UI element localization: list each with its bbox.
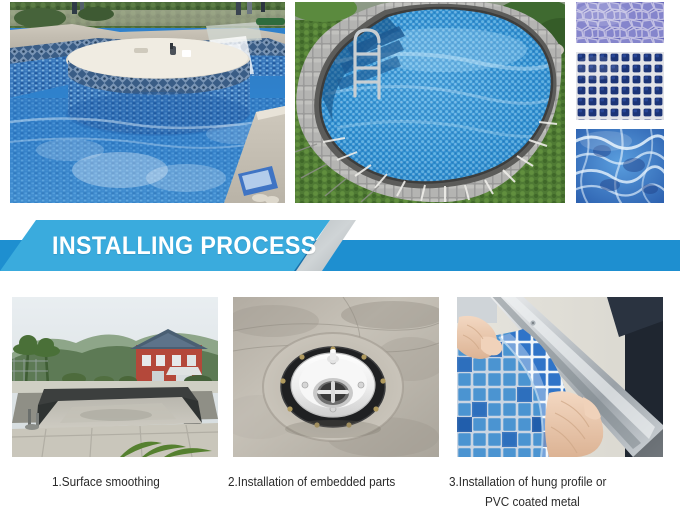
photo-pool-fountain	[10, 2, 285, 203]
swatch-ripple	[576, 129, 664, 203]
caption-step-3-line-2: PVC coated metal	[449, 492, 606, 507]
installing-process-page: INSTALLING PROCESS	[0, 0, 680, 507]
installing-process-banner: INSTALLING PROCESS	[0, 205, 680, 285]
photo-pool-kidney	[295, 2, 565, 203]
swatch-crackle	[576, 2, 664, 43]
caption-step-2: 2.Installation of embedded parts	[228, 472, 395, 492]
caption-step-1: 1.Surface smoothing	[52, 472, 160, 492]
page-title: INSTALLING PROCESS	[52, 232, 317, 261]
photo-surface-smoothing	[12, 297, 218, 457]
photo-embedded-parts	[233, 297, 439, 457]
caption-step-3: 3.Installation of hung profile or PVC co…	[449, 472, 606, 507]
swatch-mosaic	[576, 52, 664, 120]
caption-step-3-line-1: 3.Installation of hung profile or	[449, 475, 606, 489]
photo-hung-profile	[457, 297, 663, 457]
